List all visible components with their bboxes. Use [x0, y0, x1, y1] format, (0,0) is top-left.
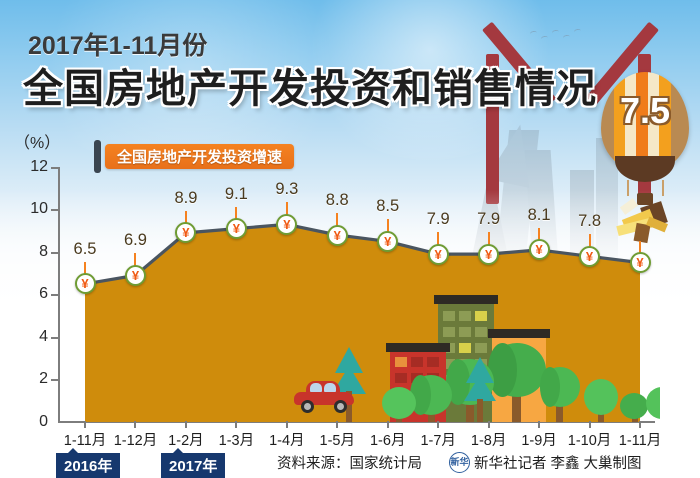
yuan-symbol-icon: ¥	[233, 222, 240, 235]
yuan-symbol-icon: ¥	[535, 243, 542, 256]
data-point-marker[interactable]: ¥	[428, 244, 449, 265]
city-illustration	[280, 295, 660, 422]
y-tick	[51, 167, 59, 169]
yuan-symbol-icon: ¥	[81, 277, 88, 290]
y-tick	[51, 337, 59, 339]
x-tick-label: 1-11月	[613, 429, 667, 450]
axis-unit-label: （%）	[14, 129, 60, 153]
tree-foliage	[540, 367, 560, 407]
data-value-label: 9.1	[212, 185, 260, 204]
page-title: 全国房地产开发投资和销售情况	[23, 56, 597, 114]
data-value-label: 7.9	[414, 210, 462, 229]
y-tick-label: 4	[14, 328, 48, 346]
tree-foliage	[382, 387, 416, 419]
legend-series: 全国房地产开发投资增速	[105, 144, 294, 169]
yuan-symbol-icon: ¥	[636, 256, 643, 269]
y-tick	[51, 379, 59, 381]
x-tick-label: 1-6月	[361, 429, 415, 450]
data-point-marker[interactable]: ¥	[377, 231, 398, 252]
xinhua-logo-icon: 新华	[449, 452, 470, 473]
x-tick-label: 1-4月	[260, 429, 314, 450]
gift-box-icon	[617, 200, 679, 246]
data-value-label: 8.8	[313, 191, 361, 210]
roof-olive	[434, 295, 498, 304]
x-tick-label: 1-2月	[159, 429, 213, 450]
data-value-label: 8.1	[515, 206, 563, 225]
x-tick-label: 1-8月	[462, 429, 516, 450]
data-point-marker[interactable]: ¥	[529, 239, 550, 260]
x-tick	[639, 421, 641, 428]
x-tick-label: 1-11月	[58, 429, 112, 450]
yuan-symbol-icon: ¥	[485, 248, 492, 261]
infographic-root: 2017年1-11月份 全国房地产开发投资和销售情况 7.5 （%） 全国房地产…	[0, 0, 700, 478]
yuan-symbol-icon: ¥	[586, 250, 593, 263]
x-tick-label: 1-12月	[108, 429, 162, 450]
yuan-symbol-icon: ¥	[384, 235, 391, 248]
x-tick-label: 1-10月	[563, 429, 617, 450]
legend-label: 全国房地产开发投资增速	[117, 146, 282, 167]
x-tick	[387, 421, 389, 428]
data-point-marker[interactable]: ¥	[579, 246, 600, 267]
yuan-symbol-icon: ¥	[182, 226, 189, 239]
x-tick	[488, 421, 490, 428]
x-tick	[84, 421, 86, 428]
data-value-label: 7.8	[566, 212, 614, 231]
y-tick	[51, 209, 59, 211]
data-value-label: 8.9	[162, 189, 210, 208]
balloon-skirt	[615, 156, 675, 182]
y-tick-label: 2	[14, 370, 48, 388]
roof-orange	[488, 329, 550, 338]
data-value-label: 8.5	[364, 197, 412, 216]
x-tick	[437, 421, 439, 428]
x-tick-label: 1-3月	[209, 429, 263, 450]
tree-foliage	[646, 387, 660, 419]
car-icon	[294, 381, 354, 411]
data-point-marker[interactable]: ¥	[630, 252, 651, 273]
y-tick-label: 10	[14, 200, 48, 218]
data-point-marker[interactable]: ¥	[478, 244, 499, 265]
tree-foliage	[584, 379, 618, 415]
x-tick-label: 1-5月	[310, 429, 364, 450]
period-badge-2016: 2016年	[56, 453, 120, 478]
yuan-symbol-icon: ¥	[132, 269, 139, 282]
x-tick	[538, 421, 540, 428]
data-point-marker[interactable]: ¥	[226, 218, 247, 239]
period-badge-2017: 2017年	[161, 453, 225, 478]
y-tick-label: 6	[14, 285, 48, 303]
balloon-value: 7.5	[601, 90, 689, 132]
source-text: 资料来源：国家统计局	[277, 452, 422, 473]
x-tick	[235, 421, 237, 428]
data-point-marker[interactable]: ¥	[327, 225, 348, 246]
yuan-symbol-icon: ¥	[283, 218, 290, 231]
yuan-symbol-icon: ¥	[435, 248, 442, 261]
data-value-label: 7.9	[465, 210, 513, 229]
x-tick	[336, 421, 338, 428]
x-tick-label: 1-9月	[512, 429, 566, 450]
data-value-label: 6.5	[61, 240, 109, 259]
y-tick	[51, 294, 59, 296]
x-tick	[589, 421, 591, 428]
x-tick	[134, 421, 136, 428]
balloon-rope	[662, 180, 664, 196]
xinhua-logo-text: 新华	[450, 458, 468, 467]
legend-marker	[94, 140, 101, 173]
y-tick-label: 8	[14, 243, 48, 261]
balloon-rope	[627, 180, 629, 196]
tree-foliage	[620, 393, 648, 419]
yuan-symbol-icon: ¥	[334, 229, 341, 242]
y-tick-label: 12	[14, 158, 48, 176]
data-value-label: 9.3	[263, 180, 311, 199]
data-point-marker[interactable]: ¥	[75, 273, 96, 294]
y-tick-label: 0	[14, 413, 48, 431]
data-point-marker[interactable]: ¥	[125, 265, 146, 286]
x-tick-label: 1-7月	[411, 429, 465, 450]
x-tick	[185, 421, 187, 428]
y-tick	[51, 252, 59, 254]
x-tick	[286, 421, 288, 428]
data-value-label: 6.9	[111, 231, 159, 250]
roof-red	[386, 343, 450, 352]
credits-text: 新华社记者 李鑫 大巢制图	[474, 452, 642, 473]
balloon-callout: 7.5	[601, 72, 693, 217]
